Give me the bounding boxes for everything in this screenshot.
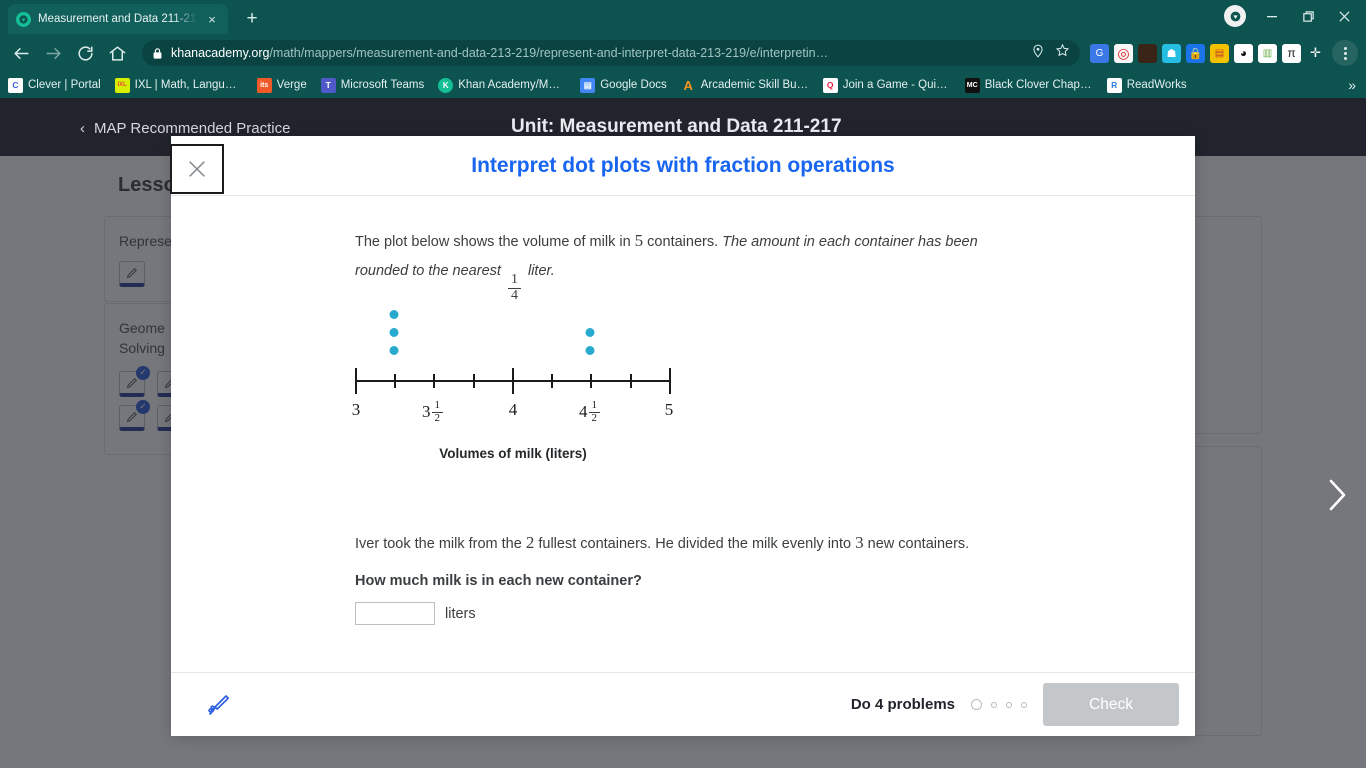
tab-strip: Measurement and Data 211-217 × + [0, 0, 1366, 34]
bookmark-readworks[interactable]: RReadWorks [1107, 78, 1187, 93]
bookmark-quizizz[interactable]: QJoin a Game - Quiziz… [823, 78, 951, 93]
bookmark-khan-academy[interactable]: KKhan Academy/Ma… [438, 78, 566, 93]
bookmark-label: IXL | Math, Langua… [135, 79, 243, 91]
fraction-denominator: 2 [589, 412, 601, 425]
split-screen-extension[interactable]: ▥ [1258, 44, 1277, 63]
modal-title: Interpret dot plots with fraction operat… [471, 154, 895, 178]
quizizz-icon: Q [823, 78, 838, 93]
bookmark-verge[interactable]: itsVerge [257, 78, 307, 93]
scenario-text: Iver took the milk from the 2 fullest co… [355, 526, 1055, 559]
contact-card-extension[interactable]: ☗ [1162, 44, 1181, 63]
progress-dot-current [971, 699, 982, 710]
maximize-button[interactable] [1290, 3, 1326, 29]
address-bar[interactable]: khanacademy.org/math/mappers/measurement… [142, 40, 1080, 66]
fraction-numerator: 1 [432, 400, 444, 412]
clever-icon: C [8, 78, 23, 93]
browser-tab[interactable]: Measurement and Data 211-217 × [8, 4, 228, 34]
bookmark-microsoft-teams[interactable]: TMicrosoft Teams [321, 78, 425, 93]
axis-tick-3.5 [433, 374, 435, 388]
scratchpad-pencil-icon[interactable] [199, 685, 239, 725]
modal-body: The plot below shows the volume of milk … [171, 196, 1195, 672]
manga-icon: MC [965, 78, 980, 93]
back-link-label: MAP Recommended Practice [94, 120, 290, 137]
extension-icons: G ◎ ☗ 🔒 ▤ ◕ ▥ π ✛ [1090, 40, 1360, 66]
url-path: /math/mappers/measurement-and-data-213-2… [269, 46, 828, 60]
bookmark-label: Black Clover Chapt… [985, 79, 1093, 91]
answer-row: liters [355, 602, 476, 625]
axis-tick-3 [355, 368, 357, 394]
new-tab-button[interactable]: + [238, 5, 266, 33]
home-button[interactable] [102, 38, 132, 68]
axis-tick-4 [512, 368, 514, 394]
axis-label-3: 3 [352, 400, 361, 420]
axis-tick-4.5 [590, 374, 592, 388]
puzzle-piece-extension[interactable]: ✛ [1306, 44, 1325, 63]
three-dot-menu-icon[interactable] [1332, 40, 1358, 66]
forward-button[interactable] [38, 38, 68, 68]
tick-label-whole: 3 [422, 402, 431, 422]
bookmark-arcademic-skill-builders[interactable]: AArcademic Skill Buil… [681, 78, 809, 93]
bookmark-label: Microsoft Teams [341, 79, 425, 91]
next-arrow-icon[interactable] [1326, 478, 1348, 512]
chevron-left-icon: ‹ [80, 120, 85, 137]
prompt-part2: containers. [643, 234, 722, 250]
url-domain: khanacademy.org [171, 46, 269, 60]
teams-icon: T [321, 78, 336, 93]
back-to-map-link[interactable]: ‹ MAP Recommended Practice [80, 120, 290, 137]
scenario-part1: Iver took the milk from the [355, 536, 526, 552]
bookmark-google-docs[interactable]: ▤Google Docs [580, 78, 666, 93]
bookmark-label: Clever | Portal [28, 79, 101, 91]
ixl-icon: IXL [115, 78, 130, 93]
bookmark-star-icon[interactable] [1055, 43, 1070, 63]
tick-label-text: 3 [352, 400, 361, 420]
axis-tick-4.25 [551, 374, 553, 388]
window-controls [1224, 3, 1362, 29]
dark-brown-extension[interactable] [1138, 44, 1157, 63]
browser-toolbar: khanacademy.org/math/mappers/measurement… [0, 34, 1366, 72]
progress-dot-pending [1021, 702, 1027, 708]
opera-red-extension[interactable]: ◎ [1114, 44, 1133, 63]
fraction-denominator: 2 [432, 412, 444, 425]
prompt-count: 5 [635, 231, 644, 250]
panda-extension[interactable]: ◕ [1234, 44, 1253, 63]
data-dot [390, 328, 399, 337]
close-icon[interactable]: × [204, 11, 220, 27]
axis-label-4: 4 [509, 400, 518, 420]
arcademic-icon: A [681, 78, 696, 93]
fraction-numerator: 1 [589, 400, 601, 412]
question-ask: How much milk is in each new container? [355, 567, 642, 595]
google-translate-extension[interactable]: G [1090, 44, 1109, 63]
bookmarks-bar: CClever | Portal IXLIXL | Math, Langua… … [0, 72, 1366, 98]
url-text: khanacademy.org/math/mappers/measurement… [171, 46, 1023, 60]
pi-math-extension[interactable]: π [1282, 44, 1301, 63]
answer-unit-label: liters [445, 606, 476, 622]
close-window-button[interactable] [1326, 3, 1362, 29]
bookmark-label: Join a Game - Quiziz… [843, 79, 951, 91]
bookmarks-overflow-button[interactable]: » [1348, 77, 1358, 93]
back-button[interactable] [6, 38, 36, 68]
tick-label-fraction: 12 [589, 400, 601, 424]
data-dot [390, 346, 399, 355]
tick-label-text: 4 [509, 400, 518, 420]
data-dot [586, 328, 595, 337]
prompt-part1: The plot below shows the volume of milk … [355, 234, 635, 250]
exercise-modal: Interpret dot plots with fraction operat… [171, 136, 1195, 736]
question-scenario: Iver took the milk from the 2 fullest co… [355, 526, 1055, 559]
data-dot [390, 310, 399, 319]
footer-actions: Do 4 problems Check [851, 683, 1179, 726]
modal-header: Interpret dot plots with fraction operat… [171, 136, 1195, 196]
bookmark-label: Verge [277, 79, 307, 91]
page-title: Unit: Measurement and Data 211-217 [511, 116, 842, 138]
verge-icon: its [257, 78, 272, 93]
padlock-extension[interactable]: 🔒 [1186, 44, 1205, 63]
lock-icon [152, 47, 163, 60]
tick-label-fraction: 12 [432, 400, 444, 424]
axis-tick-4.75 [630, 374, 632, 388]
axis-label-3-and-half: 312 [422, 400, 446, 424]
tick-label-whole: 4 [579, 402, 588, 422]
data-dot [586, 346, 595, 355]
check-answer-button[interactable]: Check [1043, 683, 1179, 726]
readworks-icon: R [1107, 78, 1122, 93]
khan-academy-favicon [16, 12, 31, 27]
tick-label-text: 5 [665, 400, 674, 420]
reload-button[interactable] [70, 38, 100, 68]
fraction-numerator: 1 [508, 273, 521, 288]
question-prompt: The plot below shows the volume of milk … [171, 224, 1011, 303]
axis-tick-3.75 [473, 374, 475, 388]
axis-label-4-and-half: 412 [579, 400, 603, 424]
minimize-button[interactable] [1254, 3, 1290, 29]
progress-indicator [971, 699, 1027, 710]
bookmark-label: Google Docs [600, 79, 666, 91]
prompt-italic2: liter. [524, 263, 555, 279]
bookmark-label: Khan Academy/Ma… [458, 79, 566, 91]
location-pin-icon[interactable] [1031, 44, 1045, 63]
khan-icon: K [438, 78, 453, 93]
chart-axis-title: Volumes of milk (liters) [439, 446, 587, 461]
bookmark-black-clover[interactable]: MCBlack Clover Chapt… [965, 78, 1093, 93]
axis-tick-3.25 [394, 374, 396, 388]
ask-text: How much milk is in each new container? [355, 567, 642, 595]
profile-avatar[interactable] [1224, 5, 1246, 27]
bookmark-clever-portal[interactable]: CClever | Portal [8, 78, 101, 93]
scenario-num2: 3 [855, 533, 864, 552]
bookmark-ixl[interactable]: IXLIXL | Math, Langua… [115, 78, 243, 93]
google-docs-icon: ▤ [580, 78, 595, 93]
scenario-part2: fullest containers. He divided the milk … [534, 536, 855, 552]
scenario-part3: new containers. [864, 536, 970, 552]
problems-count-label: Do 4 problems [851, 696, 955, 713]
notes-extension[interactable]: ▤ [1210, 44, 1229, 63]
bookmark-label: ReadWorks [1127, 79, 1187, 91]
answer-input[interactable] [355, 602, 435, 625]
axis-tick-5 [669, 368, 671, 394]
progress-dot-pending [991, 702, 997, 708]
modal-footer: Do 4 problems Check [171, 672, 1195, 736]
close-modal-button[interactable] [170, 144, 224, 194]
bookmark-label: Arcademic Skill Buil… [701, 79, 809, 91]
tab-title: Measurement and Data 211-217 [38, 13, 197, 25]
progress-dot-pending [1006, 702, 1012, 708]
browser-chrome: Measurement and Data 211-217 × + [0, 0, 1366, 98]
prompt-text: The plot below shows the volume of milk … [355, 224, 1011, 303]
dot-plot-chart: 3 312 4 412 5 Volumes of milk (liters) [355, 296, 715, 486]
axis-label-5: 5 [665, 400, 674, 420]
